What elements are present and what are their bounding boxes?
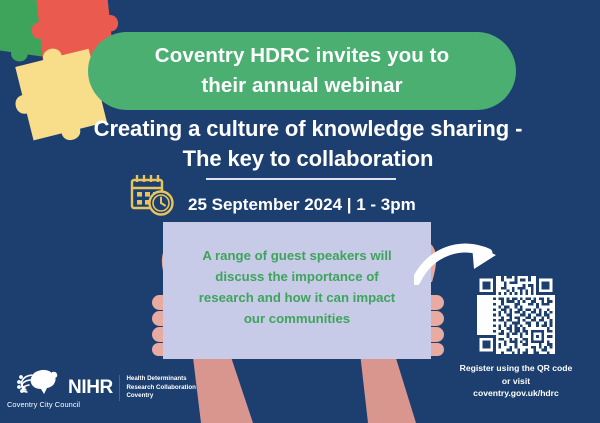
nihr-subtitle-line-3: Coventry: [126, 392, 195, 401]
nihr-wordmark: NIHR: [68, 377, 113, 399]
nihr-divider: [119, 375, 121, 401]
placard-line-2: discuss the importance of: [177, 266, 417, 287]
person-arms-illustration: [0, 0, 600, 423]
nihr-subtitle: Health Determinants Research Collaborati…: [126, 375, 195, 401]
placard-line-4: our communities: [177, 308, 417, 329]
qr-caption-line-2: or visit: [438, 375, 594, 388]
placard-line-3: research and how it can impact: [177, 287, 417, 308]
nihr-subtitle-line-1: Health Determinants: [126, 375, 195, 384]
nihr-subtitle-line-2: Research Collaboration: [126, 384, 195, 393]
coventry-city-council-label: Coventry City Council: [7, 400, 80, 409]
qr-caption: Register using the QR code or visit cove…: [438, 362, 594, 400]
placard-message: A range of guest speakers will discuss t…: [177, 245, 417, 329]
qr-code-icon[interactable]: [477, 276, 555, 354]
webinar-poster: Coventry HDRC invites you to their annua…: [0, 0, 600, 423]
nihr-logo: NIHR Health Determinants Research Collab…: [68, 375, 196, 401]
qr-caption-line-3[interactable]: coventry.gov.uk/hdrc: [438, 387, 594, 400]
placard-sign: A range of guest speakers will discuss t…: [163, 222, 431, 359]
placard-line-1: A range of guest speakers will: [177, 245, 417, 266]
qr-caption-line-1: Register using the QR code: [438, 362, 594, 375]
